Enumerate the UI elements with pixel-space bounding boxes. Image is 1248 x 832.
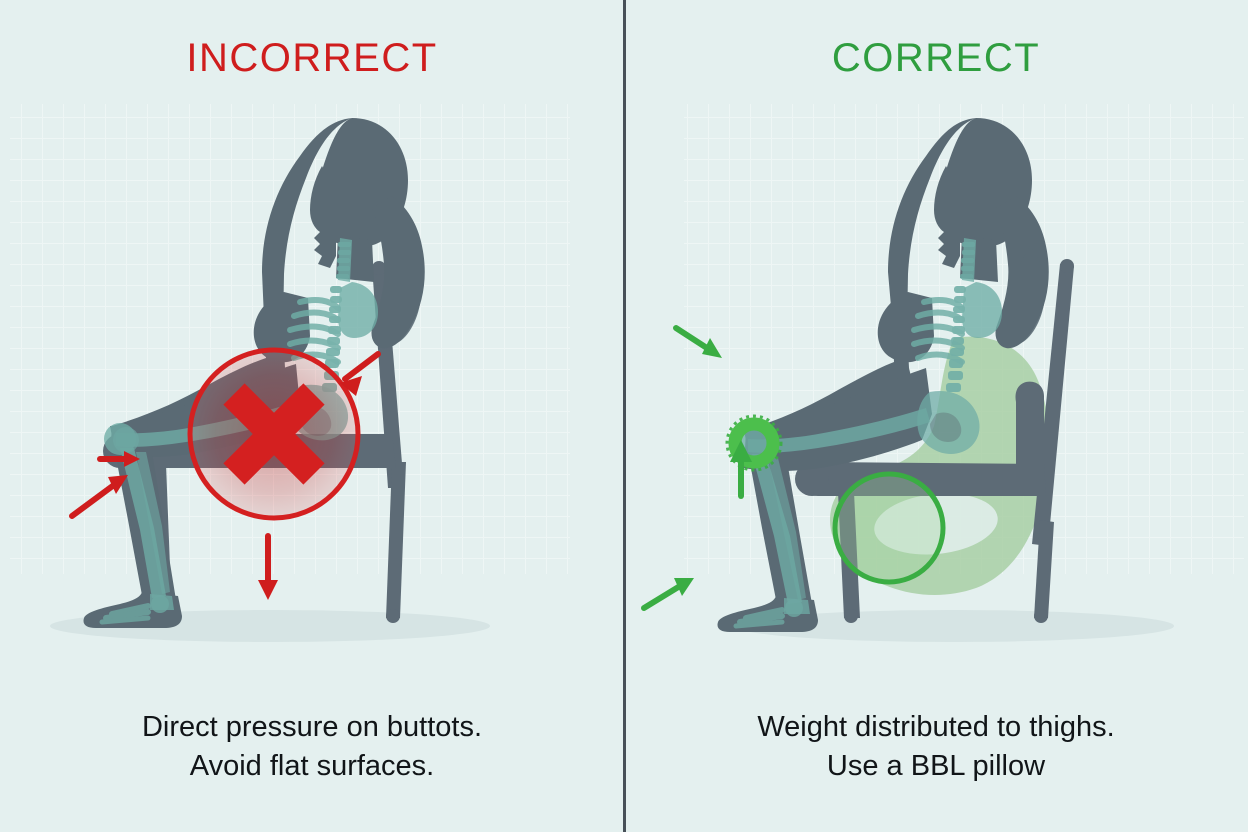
panel-heading-incorrect: INCORRECT bbox=[0, 36, 624, 81]
illustration-incorrect bbox=[0, 96, 624, 676]
caption-line-1: Direct pressure on buttots. bbox=[0, 708, 624, 747]
pressure-marker-incorrect bbox=[190, 350, 358, 518]
panel-heading-correct: CORRECT bbox=[624, 36, 1248, 81]
illustration-correct bbox=[624, 96, 1248, 676]
caption-line-2: Avoid flat surfaces. bbox=[0, 747, 624, 786]
caption-line-2: Use a BBL pillow bbox=[624, 747, 1248, 786]
caption-correct: Weight distributed to thighs. Use a BBL … bbox=[624, 708, 1248, 786]
infographic-board: INCORRECT bbox=[0, 0, 1248, 832]
panel-divider bbox=[623, 0, 626, 832]
panel-incorrect: INCORRECT bbox=[0, 0, 624, 832]
panel-correct: CORRECT bbox=[624, 0, 1248, 832]
caption-incorrect: Direct pressure on buttots. Avoid flat s… bbox=[0, 708, 624, 786]
pillow-support-marker bbox=[835, 474, 943, 582]
caption-line-1: Weight distributed to thighs. bbox=[624, 708, 1248, 747]
